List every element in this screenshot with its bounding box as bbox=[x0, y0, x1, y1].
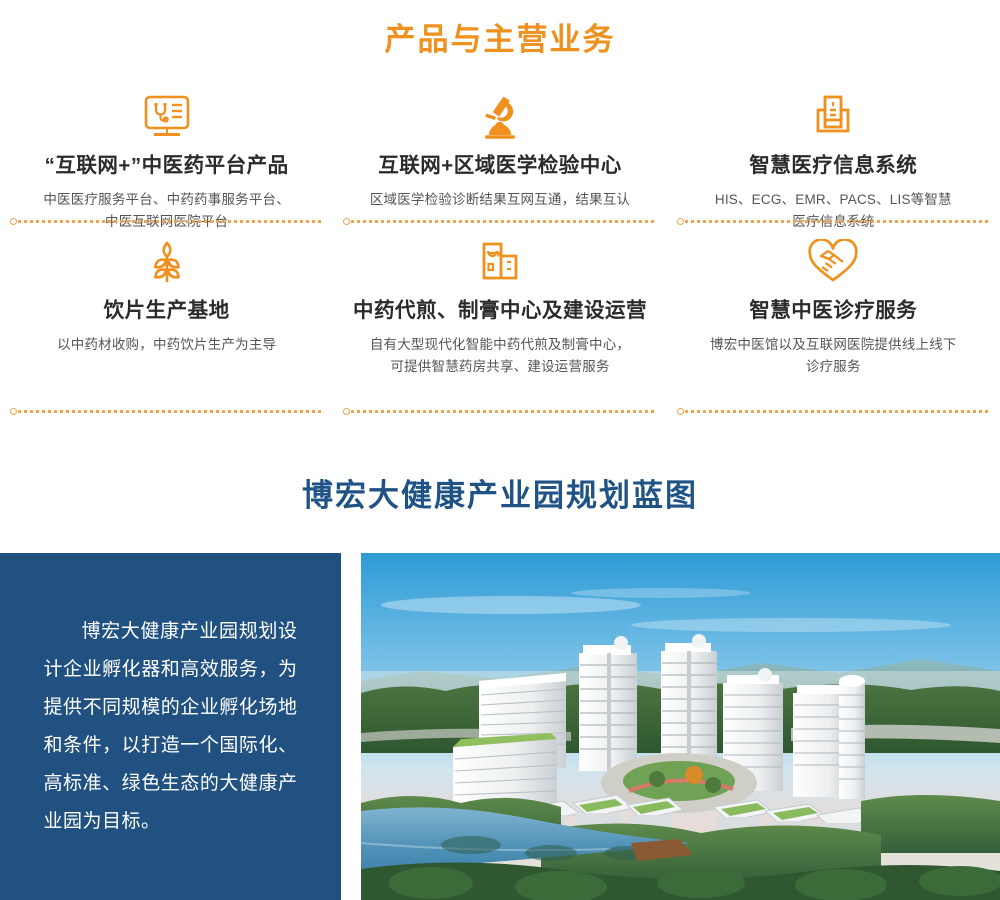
card-dotted-divider bbox=[343, 217, 656, 225]
product-card-decoction-pieces-base[interactable]: 饮片生产基地 以中药材收购，中药饮片生产为主导 bbox=[0, 227, 333, 419]
park-section-title: 博宏大健康产业园规划蓝图 bbox=[0, 477, 1000, 514]
hospital-building-icon bbox=[685, 82, 982, 140]
product-card-title: 互联网+区域医学检验中心 bbox=[351, 152, 648, 180]
desc-line-2: 可提供智慧药房共享、建设运营服务 bbox=[390, 359, 609, 374]
product-card-title: 智慧医疗信息系统 bbox=[685, 152, 982, 180]
product-card-description: 以中药材收购，中药饮片生产为主导 bbox=[18, 334, 315, 356]
card-dotted-divider bbox=[677, 217, 990, 225]
product-card-title: “互联网+”中医药平台产品 bbox=[18, 152, 315, 180]
desc-line-2: 诊疗服务 bbox=[806, 359, 861, 374]
products-card-grid: “互联网+”中医药平台产品 中医医疗服务平台、中药药事服务平台、 中医互联网医院… bbox=[0, 82, 1000, 419]
card-dotted-divider bbox=[343, 407, 656, 415]
desc-line-1: 中医医疗服务平台、中药药事服务平台、 bbox=[43, 192, 290, 207]
product-card-description: 自有大型现代化智能中药代煎及制膏中心， 可提供智慧药房共享、建设运营服务 bbox=[351, 334, 648, 379]
product-card-title: 饮片生产基地 bbox=[18, 297, 315, 325]
microscope-icon bbox=[351, 82, 648, 140]
desc-line-1: 自有大型现代化智能中药代煎及制膏中心， bbox=[370, 337, 630, 352]
page-root: 产品与主营业务 “互联网+”中医药平台产品 bbox=[0, 0, 1000, 900]
divider-dotted-line bbox=[18, 410, 323, 413]
divider-ring-icon bbox=[343, 408, 350, 415]
product-card-description: 博宏中医馆以及互联网医院提供线上线下 诊疗服务 bbox=[685, 334, 982, 379]
decoction-factory-icon bbox=[351, 227, 648, 285]
product-card-internet-plus-tcm-platform[interactable]: “互联网+”中医药平台产品 中医医疗服务平台、中药药事服务平台、 中医互联网医院… bbox=[0, 82, 333, 227]
divider-ring-icon bbox=[343, 218, 350, 225]
divider-ring-icon bbox=[10, 218, 17, 225]
divider-dotted-line bbox=[351, 220, 656, 223]
product-card-regional-lab-center[interactable]: 互联网+区域医学检验中心 区域医学检验诊断结果互网互通，结果互认 bbox=[333, 82, 666, 227]
health-record-monitor-icon bbox=[18, 82, 315, 140]
wheat-herb-icon bbox=[18, 227, 315, 285]
product-card-smart-tcm-diagnosis-service[interactable]: 智慧中医诊疗服务 博宏中医馆以及互联网医院提供线上线下 诊疗服务 bbox=[667, 227, 1000, 419]
products-section-title: 产品与主营业务 bbox=[0, 0, 1000, 58]
park-description-text: 博宏大健康产业园规划设计企业孵化器和高效服务，为提供不同规模的企业孵化场地和条件… bbox=[44, 613, 298, 841]
divider-dotted-line bbox=[685, 220, 990, 223]
desc-line-1: HIS、ECG、EMR、PACS、LIS等智慧 bbox=[715, 192, 952, 207]
park-rendering-image bbox=[361, 553, 1000, 900]
desc-line-1: 以中药材收购，中药饮片生产为主导 bbox=[57, 337, 276, 352]
divider-dotted-line bbox=[685, 410, 990, 413]
handshake-heart-icon bbox=[685, 227, 982, 285]
card-dotted-divider bbox=[677, 407, 990, 415]
park-blueprint-row: 博宏大健康产业园规划设计企业孵化器和高效服务，为提供不同规模的企业孵化场地和条件… bbox=[0, 553, 1000, 900]
product-card-title: 智慧中医诊疗服务 bbox=[685, 297, 982, 325]
product-card-decoction-paste-center[interactable]: 中药代煎、制膏中心及建设运营 自有大型现代化智能中药代煎及制膏中心， 可提供智慧… bbox=[333, 227, 666, 419]
card-dotted-divider bbox=[10, 217, 323, 225]
desc-line-1: 博宏中医馆以及互联网医院提供线上线下 bbox=[710, 337, 957, 352]
desc-line-1: 区域医学检验诊断结果互网互通，结果互认 bbox=[370, 192, 630, 207]
divider-ring-icon bbox=[677, 218, 684, 225]
product-card-title: 中药代煎、制膏中心及建设运营 bbox=[351, 297, 648, 325]
divider-dotted-line bbox=[18, 220, 323, 223]
product-card-description: 区域医学检验诊断结果互网互通，结果互认 bbox=[351, 189, 648, 211]
park-description-panel: 博宏大健康产业园规划设计企业孵化器和高效服务，为提供不同规模的企业孵化场地和条件… bbox=[0, 553, 341, 900]
divider-dotted-line bbox=[351, 410, 656, 413]
divider-ring-icon bbox=[677, 408, 684, 415]
product-card-smart-medical-information-system[interactable]: 智慧医疗信息系统 HIS、ECG、EMR、PACS、LIS等智慧 医疗信息系统 bbox=[667, 82, 1000, 227]
divider-ring-icon bbox=[10, 408, 17, 415]
card-dotted-divider bbox=[10, 407, 323, 415]
